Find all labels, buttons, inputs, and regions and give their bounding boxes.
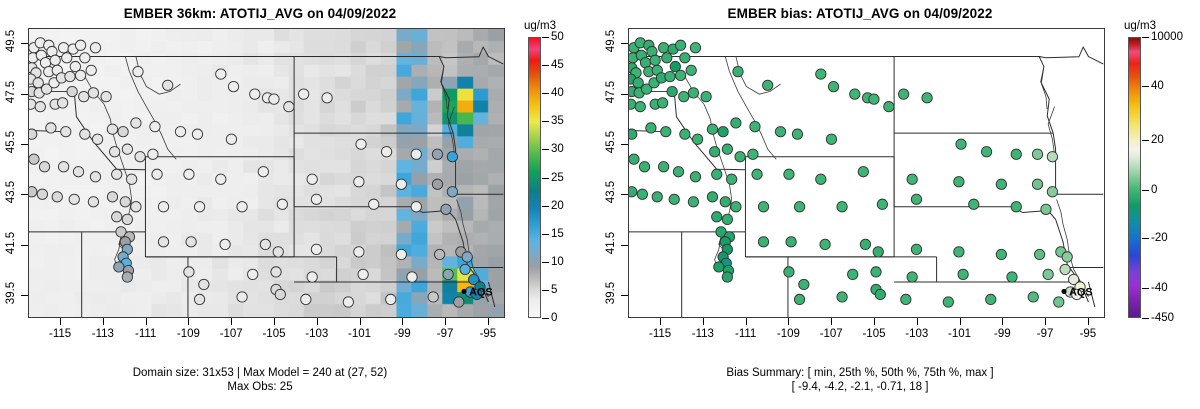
observation-site xyxy=(860,239,870,249)
x-tick xyxy=(231,318,232,325)
observation-site xyxy=(858,167,868,177)
observation-site xyxy=(748,149,758,159)
y-tick xyxy=(621,245,628,246)
colorbar-tick-label: 25 xyxy=(551,172,564,184)
colorbar-tick-label: 15 xyxy=(551,228,564,240)
y-tick xyxy=(21,43,28,44)
observation-site xyxy=(29,154,39,164)
model-map-overlay: AQS xyxy=(29,29,504,317)
observation-site xyxy=(828,81,838,91)
observation-site xyxy=(922,93,932,103)
observation-site xyxy=(428,292,438,302)
observation-site xyxy=(714,262,724,272)
observation-site xyxy=(454,297,464,307)
observation-site xyxy=(101,91,111,101)
colorbar-tick xyxy=(542,121,549,122)
x-tick xyxy=(1045,318,1046,325)
observation-site xyxy=(175,127,185,137)
observation-site xyxy=(1047,187,1057,197)
bias-caption-line2: [ -9.4, -4.2, -2.1, -0.71, 18 ] xyxy=(600,380,1120,394)
observation-site xyxy=(662,53,672,63)
x-tick xyxy=(917,318,918,325)
x-tick xyxy=(660,318,661,325)
y-tick xyxy=(621,43,628,44)
observation-site xyxy=(733,66,743,76)
observation-site xyxy=(118,127,128,137)
observation-site xyxy=(354,247,364,257)
observation-site xyxy=(354,177,364,187)
y-tick xyxy=(621,94,628,95)
observation-site xyxy=(311,244,321,254)
observation-site xyxy=(1028,292,1038,302)
colorbar-tick-label: 40 xyxy=(1151,80,1164,92)
observation-site xyxy=(629,154,639,164)
y-tick-label: 47.5 xyxy=(605,72,617,112)
observation-site xyxy=(709,147,719,157)
observation-site xyxy=(122,214,132,224)
colorbar-tick xyxy=(542,65,549,66)
observation-site xyxy=(877,199,887,209)
y-tick xyxy=(621,144,628,145)
observation-site xyxy=(462,252,472,262)
y-tick xyxy=(21,295,28,296)
observation-site xyxy=(658,43,668,53)
colorbar-tick-label: 20 xyxy=(551,200,564,212)
observation-site xyxy=(226,134,236,144)
observation-site xyxy=(637,189,647,199)
observation-site xyxy=(39,162,49,172)
observation-site xyxy=(29,129,37,139)
x-tick xyxy=(103,318,104,325)
observation-site xyxy=(269,94,279,104)
observation-site xyxy=(131,118,141,128)
x-tick-label: -101 xyxy=(936,328,984,340)
x-tick xyxy=(874,318,875,325)
observation-site xyxy=(369,199,379,209)
observation-site xyxy=(712,169,722,179)
colorbar-tick xyxy=(1142,140,1149,141)
observation-site xyxy=(981,147,991,157)
observation-site xyxy=(758,202,768,212)
observation-site xyxy=(763,80,773,90)
observation-site xyxy=(148,149,158,159)
observation-site xyxy=(665,71,675,81)
observation-site xyxy=(80,129,90,139)
observation-site xyxy=(826,134,836,144)
x-tick xyxy=(317,318,318,325)
observation-site xyxy=(29,187,37,197)
observation-site xyxy=(237,292,247,302)
observation-site xyxy=(112,212,122,222)
panel-bias-colorbar: ug/m3 -450-40-200204010000 xyxy=(1128,0,1198,409)
observation-site xyxy=(184,169,194,179)
x-tick xyxy=(960,318,961,325)
observation-site xyxy=(61,127,71,137)
x-tick-label: -95 xyxy=(464,328,512,340)
observation-site xyxy=(690,172,700,182)
observation-site xyxy=(90,172,100,182)
observation-site xyxy=(35,101,45,111)
observation-site xyxy=(661,127,671,137)
observation-site xyxy=(707,124,717,134)
x-tick-label: -103 xyxy=(293,328,341,340)
observation-site xyxy=(447,152,457,162)
colorbar-gradient xyxy=(528,37,541,318)
colorbar-tick xyxy=(542,37,549,38)
observation-site xyxy=(216,174,226,184)
y-tick xyxy=(21,144,28,145)
observation-site xyxy=(411,149,421,159)
observation-site xyxy=(432,149,442,159)
y-tick-label: 49.5 xyxy=(605,21,617,61)
y-tick xyxy=(621,194,628,195)
observation-site xyxy=(192,129,202,139)
observation-site xyxy=(898,89,908,99)
observation-site xyxy=(794,202,804,212)
observation-site xyxy=(107,192,117,202)
observation-site xyxy=(150,121,160,131)
observation-site xyxy=(73,167,83,177)
x-tick xyxy=(703,318,704,325)
colorbar-tick xyxy=(542,149,549,150)
observation-site xyxy=(311,194,321,204)
x-tick xyxy=(60,318,61,325)
y-tick-label: 45.5 xyxy=(5,122,17,162)
observation-site xyxy=(707,192,717,202)
x-tick-label: -115 xyxy=(36,328,84,340)
colorbar-tick-label: -40 xyxy=(1151,282,1168,294)
observation-site xyxy=(122,272,132,282)
observation-site xyxy=(65,71,75,81)
observation-site xyxy=(956,139,966,149)
x-tick-label: -105 xyxy=(250,328,298,340)
observation-site xyxy=(735,152,745,162)
observation-site xyxy=(62,53,72,63)
observation-site xyxy=(1007,272,1017,282)
x-tick-label: -97 xyxy=(421,328,469,340)
observation-site xyxy=(237,202,247,212)
observation-site xyxy=(669,194,679,204)
observation-site xyxy=(686,65,696,75)
panel-bias-plot-area: AQS xyxy=(628,28,1105,318)
observation-site xyxy=(786,237,796,247)
observation-site xyxy=(722,144,732,154)
observation-site xyxy=(1041,204,1051,214)
observation-site xyxy=(184,267,194,277)
observation-site xyxy=(646,123,656,133)
observation-site xyxy=(216,69,226,79)
x-tick-label: -109 xyxy=(764,328,812,340)
observation-site xyxy=(37,189,47,199)
observation-site xyxy=(79,91,89,101)
aqs-marker-label: AQS xyxy=(469,286,493,298)
colorbar-tick-label: 0 xyxy=(1151,184,1157,196)
observation-site xyxy=(75,40,85,50)
observation-site xyxy=(692,134,702,144)
observation-site xyxy=(688,88,698,98)
observation-site xyxy=(629,129,637,139)
x-tick xyxy=(488,318,489,325)
y-tick-label: 43.5 xyxy=(605,172,617,212)
observation-site xyxy=(58,162,68,172)
observation-site xyxy=(667,86,677,96)
observation-site xyxy=(307,174,317,184)
y-tick-label: 41.5 xyxy=(605,223,617,263)
observation-site xyxy=(122,144,132,154)
model-caption-line2: Max Obs: 25 xyxy=(0,380,520,394)
observation-site xyxy=(194,294,204,304)
observation-site xyxy=(158,202,168,212)
observation-site xyxy=(441,204,451,214)
observation-site xyxy=(652,192,662,202)
observation-site xyxy=(958,269,968,279)
observation-site xyxy=(794,294,804,304)
model-caption-line1: Domain size: 31x53 | Max Model = 240 at … xyxy=(0,366,520,380)
observation-site xyxy=(726,174,736,184)
observation-site xyxy=(731,202,741,212)
observation-site xyxy=(954,247,964,257)
observation-site xyxy=(680,129,690,139)
observation-site xyxy=(750,121,760,131)
observation-site xyxy=(248,269,258,279)
aqs-marker-dot xyxy=(1061,289,1066,294)
observation-site xyxy=(434,249,444,259)
observation-site xyxy=(186,237,196,247)
panel-model: EMBER 36km: ATOTIJ_AVG on 04/09/2022 AQS… xyxy=(0,0,600,409)
observation-site xyxy=(260,239,270,249)
observation-site xyxy=(688,197,698,207)
x-tick-label: -107 xyxy=(207,328,255,340)
observation-site xyxy=(396,249,406,259)
x-tick-label: -99 xyxy=(978,328,1026,340)
observation-site xyxy=(701,91,711,101)
colorbar-tick xyxy=(542,262,549,263)
panel-bias-x-axis: -115-113-111-109-107-105-103-101-99-97-9… xyxy=(628,318,1105,350)
x-tick-label: -111 xyxy=(722,328,770,340)
observation-site xyxy=(658,162,668,172)
panel-model-x-axis: -115-113-111-109-107-105-103-101-99-97-9… xyxy=(28,318,505,350)
observation-site xyxy=(52,192,62,202)
observation-site xyxy=(50,55,60,65)
observation-site xyxy=(273,247,283,257)
colorbar-tick xyxy=(1142,190,1149,191)
observation-site xyxy=(69,194,79,204)
observation-site xyxy=(784,169,794,179)
observation-site xyxy=(1011,202,1021,212)
observation-site xyxy=(1011,149,1021,159)
colorbar-tick-label: 50 xyxy=(551,31,564,43)
x-tick xyxy=(274,318,275,325)
observation-site xyxy=(871,267,881,277)
observation-site xyxy=(301,294,311,304)
observation-site xyxy=(432,179,442,189)
observation-site xyxy=(799,279,809,289)
observation-site xyxy=(275,289,285,299)
panel-model-colorbar: ug/m3 05101520253035404550 xyxy=(528,0,598,409)
observation-site xyxy=(784,267,794,277)
y-tick xyxy=(621,295,628,296)
colorbar-tick-label: 45 xyxy=(551,59,564,71)
observation-site xyxy=(107,124,117,134)
colorbar-tick xyxy=(542,178,549,179)
observation-site xyxy=(850,89,860,99)
colorbar-tick-label: 35 xyxy=(551,115,564,127)
observation-site xyxy=(657,98,667,108)
x-tick xyxy=(188,318,189,325)
observation-site xyxy=(57,98,67,108)
y-tick-label: 43.5 xyxy=(5,172,17,212)
x-tick xyxy=(746,318,747,325)
observation-site xyxy=(722,214,732,224)
colorbar-tick-label: 30 xyxy=(551,143,564,155)
observation-site xyxy=(816,174,826,184)
observation-site xyxy=(298,89,308,99)
x-tick xyxy=(831,318,832,325)
observation-site xyxy=(901,294,911,304)
x-tick-label: -105 xyxy=(850,328,898,340)
observation-site xyxy=(271,267,281,277)
observation-site xyxy=(112,169,122,179)
observation-site xyxy=(1054,297,1064,307)
observation-site xyxy=(792,129,802,139)
colorbar-tick xyxy=(542,234,549,235)
colorbar-tick-label: -450 xyxy=(1151,312,1174,324)
x-tick-label: -115 xyxy=(636,328,684,340)
colorbar-gradient xyxy=(1128,37,1141,318)
observation-site xyxy=(358,269,368,279)
observation-site xyxy=(873,247,883,257)
observation-site xyxy=(80,53,90,63)
observation-site xyxy=(650,55,660,65)
aqs-marker-label: AQS xyxy=(1069,286,1093,298)
x-tick-label: -95 xyxy=(1064,328,1112,340)
observation-site xyxy=(629,187,637,197)
observation-site xyxy=(199,279,209,289)
bias-map-overlay: AQS xyxy=(629,29,1104,317)
observation-site xyxy=(712,212,722,222)
observation-site xyxy=(1034,249,1044,259)
observation-site xyxy=(250,89,260,99)
observation-site xyxy=(46,123,56,133)
observation-site xyxy=(875,289,885,299)
observation-site xyxy=(675,70,685,80)
observation-site xyxy=(381,147,391,157)
x-tick xyxy=(146,318,147,325)
aqs-marker-dot xyxy=(461,289,466,294)
observation-site xyxy=(386,294,396,304)
observation-site xyxy=(911,244,921,254)
colorbar-tick-label: -20 xyxy=(1151,232,1168,244)
colorbar-tick-label: 10 xyxy=(551,256,564,268)
observation-site xyxy=(396,179,406,189)
x-tick-label: -109 xyxy=(164,328,212,340)
y-tick-label: 41.5 xyxy=(5,223,17,263)
colorbar-tick xyxy=(1142,318,1149,319)
observation-site xyxy=(356,139,366,149)
x-tick-label: -111 xyxy=(122,328,170,340)
y-tick xyxy=(21,245,28,246)
y-tick xyxy=(21,94,28,95)
y-tick-label: 49.5 xyxy=(5,21,17,61)
observation-site xyxy=(758,237,768,247)
observation-site xyxy=(1032,149,1042,159)
observation-site xyxy=(135,152,145,162)
x-tick-label: -103 xyxy=(893,328,941,340)
observation-site xyxy=(837,202,847,212)
colorbar-tick xyxy=(542,93,549,94)
x-tick xyxy=(788,318,789,325)
observation-site xyxy=(114,262,124,272)
y-tick xyxy=(21,194,28,195)
observation-site xyxy=(986,294,996,304)
observation-site xyxy=(911,194,921,204)
observation-site xyxy=(1062,252,1072,262)
observation-site xyxy=(447,187,457,197)
observation-site xyxy=(443,269,453,279)
x-tick-label: -113 xyxy=(79,328,127,340)
observation-site xyxy=(954,177,964,187)
colorbar-tick xyxy=(1142,288,1149,289)
colorbar-tick-label: 5 xyxy=(551,284,557,296)
observation-site xyxy=(67,86,77,96)
observation-site xyxy=(277,199,287,209)
observation-site xyxy=(126,174,136,184)
observation-site xyxy=(1032,179,1042,189)
observation-site xyxy=(163,80,173,90)
observation-site xyxy=(722,272,732,282)
observation-site xyxy=(718,127,728,137)
colorbar-tick xyxy=(1142,37,1149,38)
observation-site xyxy=(775,127,785,137)
figure-root: EMBER 36km: ATOTIJ_AVG on 04/09/2022 AQS… xyxy=(0,0,1200,409)
observation-site xyxy=(1043,269,1053,279)
observation-site xyxy=(996,249,1006,259)
observation-site xyxy=(820,239,830,249)
observation-site xyxy=(720,197,730,207)
observation-site xyxy=(131,202,141,212)
observation-site xyxy=(1060,264,1070,274)
panel-model-title: EMBER 36km: ATOTIJ_AVG on 04/09/2022 xyxy=(0,6,520,21)
observation-site xyxy=(907,272,917,282)
observation-site xyxy=(88,197,98,207)
observation-site xyxy=(92,134,102,144)
x-tick-label: -99 xyxy=(378,328,426,340)
observation-site xyxy=(152,169,162,179)
observation-site xyxy=(120,197,130,207)
observation-site xyxy=(1047,152,1057,162)
observation-site xyxy=(675,40,685,50)
observation-site xyxy=(996,179,1006,189)
panel-bias-y-axis: 39.541.543.545.547.549.5 xyxy=(600,28,628,318)
observation-site xyxy=(133,66,143,76)
observation-site xyxy=(88,88,98,98)
observation-site xyxy=(690,43,700,53)
observation-site xyxy=(322,93,332,103)
observation-site xyxy=(411,202,421,212)
x-tick xyxy=(445,318,446,325)
observation-site xyxy=(837,292,847,302)
y-tick-label: 45.5 xyxy=(605,122,617,162)
observation-site xyxy=(635,101,645,111)
observation-site xyxy=(343,297,353,307)
observation-site xyxy=(969,199,979,209)
observation-site xyxy=(86,65,96,75)
observation-site xyxy=(90,43,100,53)
observation-site xyxy=(816,69,826,79)
observation-site xyxy=(158,237,168,247)
x-tick xyxy=(1002,318,1003,325)
observation-site xyxy=(752,169,762,179)
